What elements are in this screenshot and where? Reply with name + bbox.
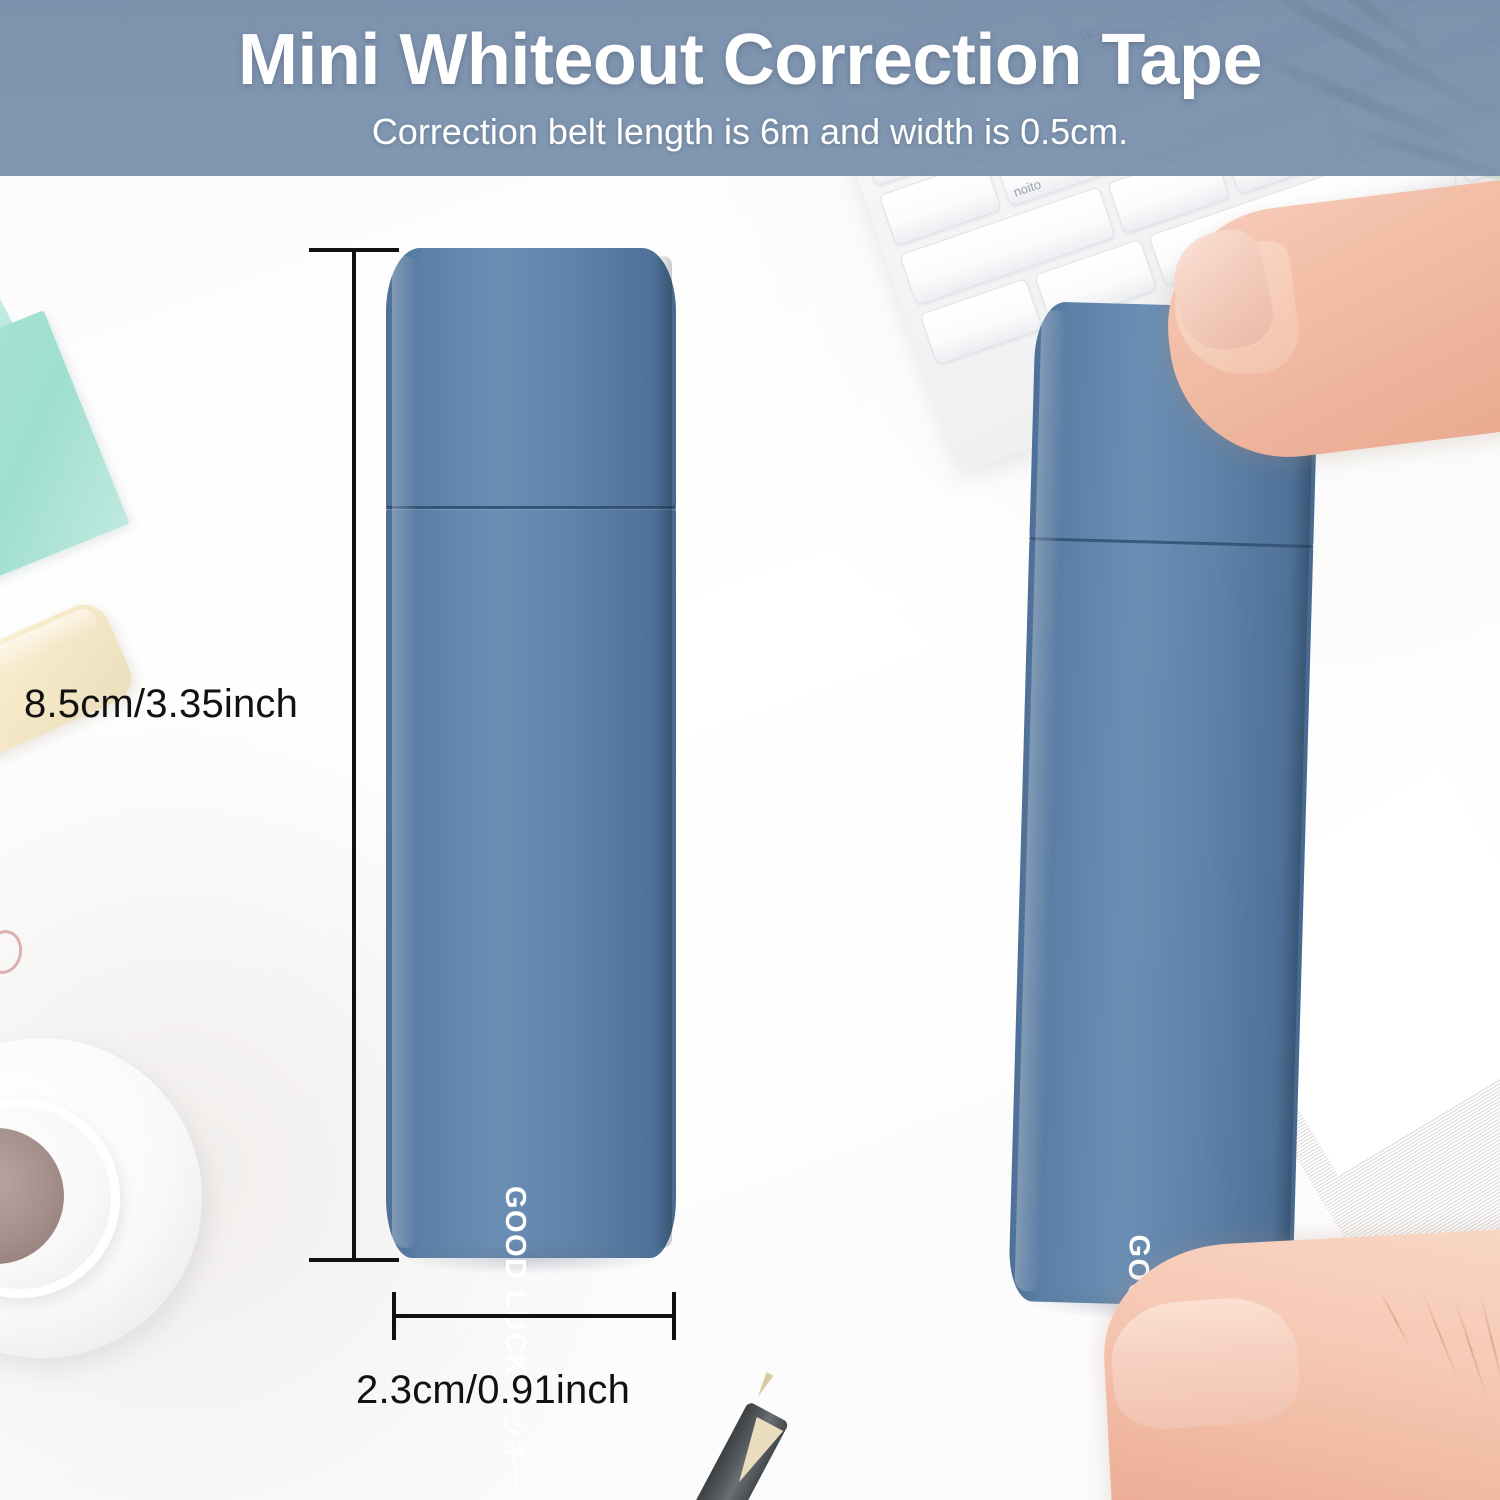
brand-text-english: GOOD LUCK — [498, 1186, 531, 1377]
width-measure-label: 2.3cm/0.91inch — [356, 1368, 630, 1413]
fountain-pen — [746, 1352, 1056, 1500]
header-banner: Mini Whiteout Correction Tape Correction… — [0, 0, 1500, 176]
bracket-cap-bottom — [309, 1258, 399, 1262]
bracket-vertical-line — [352, 248, 356, 1262]
pen-nib — [754, 1372, 773, 1399]
keyboard-key-label: noito — [1011, 176, 1043, 199]
header-content: Mini Whiteout Correction Tape Correction… — [0, 0, 1500, 176]
width-measure-bracket — [392, 1292, 676, 1340]
page-title: Mini Whiteout Correction Tape — [238, 24, 1262, 97]
height-measure-label: 8.5cm/3.35inch — [24, 682, 298, 727]
product-cap — [386, 248, 676, 508]
product-image-stage: sk ne v as noito — [0, 0, 1500, 1500]
product-body — [386, 508, 676, 1258]
product-body — [1008, 539, 1313, 1309]
correction-tape-front-view: GOOD LUCK ラッキー — [386, 248, 676, 1258]
thumbnail — [1108, 1294, 1302, 1433]
product-seam-line — [386, 506, 676, 509]
bracket-cap-right — [672, 1292, 676, 1340]
page-subtitle: Correction belt length is 6m and width i… — [372, 112, 1128, 152]
bracket-horizontal-line — [392, 1314, 676, 1318]
height-measure-bracket — [300, 248, 410, 1262]
